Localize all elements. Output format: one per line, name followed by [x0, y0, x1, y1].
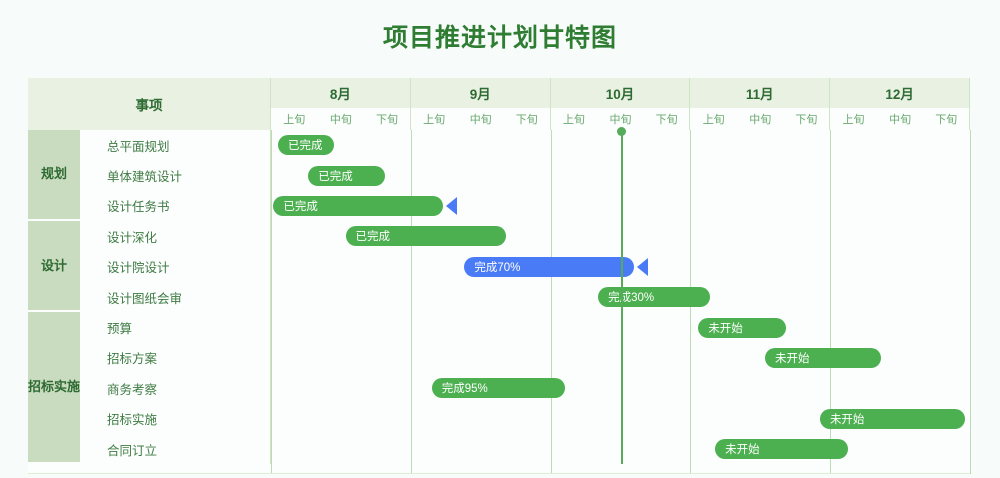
header-item-column: 事项 — [28, 78, 271, 130]
gantt-bar[interactable]: 已完成 — [308, 166, 385, 186]
task-name-cell[interactable]: 预算 — [80, 312, 271, 342]
group-cell-0[interactable]: 规划 — [28, 130, 80, 221]
decade-header-12: 上旬 — [830, 108, 877, 130]
month-header-2: 9月 — [411, 78, 551, 108]
gridline-15 — [970, 130, 971, 474]
decade-header-8: 下旬 — [644, 108, 691, 130]
gantt-bar[interactable]: 未开始 — [765, 348, 881, 368]
gantt-body: 规划设计招标实施 总平面规划单体建筑设计设计任务书设计深化设计院设计设计图纸会审… — [28, 130, 970, 474]
decade-header-1: 中旬 — [318, 108, 365, 130]
decade-header-0: 上旬 — [271, 108, 318, 130]
month-header-4: 11月 — [690, 78, 830, 108]
gantt-bar[interactable]: 未开始 — [698, 318, 786, 338]
task-name-cell[interactable]: 招标方案 — [80, 343, 271, 373]
task-name-cell[interactable]: 商务考察 — [80, 373, 271, 403]
task-name-cell[interactable]: 设计任务书 — [80, 191, 271, 221]
gridline-0 — [271, 130, 272, 474]
group-label-line: 设计 — [41, 258, 67, 274]
group-cell-1[interactable]: 设计 — [28, 221, 80, 312]
gantt-chart: 事项 8月9月10月11月12月 上旬中旬下旬上旬中旬下旬上旬中旬下旬上旬中旬下… — [28, 78, 970, 474]
gantt-bar[interactable]: 未开始 — [820, 409, 965, 429]
decade-header-6: 上旬 — [551, 108, 598, 130]
decade-header-14: 下旬 — [923, 108, 970, 130]
decade-header-3: 上旬 — [411, 108, 458, 130]
month-header-1: 8月 — [271, 78, 411, 108]
milestone-line — [621, 130, 623, 464]
task-name-cell[interactable]: 设计图纸会审 — [80, 282, 271, 312]
gantt-bar[interactable]: 已完成 — [346, 226, 507, 246]
milestone-dot-icon — [617, 127, 626, 136]
gantt-header: 事项 8月9月10月11月12月 上旬中旬下旬上旬中旬下旬上旬中旬下旬上旬中旬下… — [28, 78, 970, 130]
gantt-bar[interactable]: 已完成 — [273, 196, 443, 216]
gantt-bar[interactable]: 未开始 — [715, 439, 848, 459]
decade-header-4: 中旬 — [457, 108, 504, 130]
task-name-cell[interactable]: 设计院设计 — [80, 252, 271, 282]
decade-header-13: 中旬 — [877, 108, 924, 130]
decade-header-11: 下旬 — [784, 108, 831, 130]
decade-header-2: 下旬 — [364, 108, 411, 130]
gantt-bar[interactable]: 完成30% — [598, 287, 710, 307]
decade-header-10: 中旬 — [737, 108, 784, 130]
gantt-bar[interactable]: 已完成 — [278, 135, 334, 155]
gantt-bar[interactable]: 完成95% — [432, 378, 565, 398]
task-name-cell[interactable]: 单体建筑设计 — [80, 160, 271, 190]
decade-header-5: 下旬 — [504, 108, 551, 130]
task-name-cell[interactable]: 设计深化 — [80, 221, 271, 251]
gantt-page: 项目推进计划甘特图 事项 8月9月10月11月12月 上旬中旬下旬上旬中旬下旬上… — [0, 0, 1000, 478]
task-name-cell[interactable]: 合同订立 — [80, 434, 271, 464]
decade-header-9: 上旬 — [690, 108, 737, 130]
task-name-cell[interactable]: 招标实施 — [80, 404, 271, 434]
month-header-5: 12月 — [830, 78, 970, 108]
group-label-line: 规划 — [41, 166, 67, 182]
month-header-3: 10月 — [551, 78, 691, 108]
task-name-cell[interactable]: 总平面规划 — [80, 130, 271, 160]
frame-bottom-divider — [28, 473, 970, 474]
group-label-line: 实施 — [54, 379, 80, 395]
gridline-6 — [551, 130, 552, 474]
gantt-bar[interactable]: 完成70% — [464, 257, 634, 277]
group-label-line: 招标 — [28, 379, 54, 395]
bar-end-marker-icon — [446, 197, 457, 215]
gridline-3 — [411, 130, 412, 474]
page-title: 项目推进计划甘特图 — [0, 18, 1000, 54]
bar-end-marker-icon — [637, 258, 648, 276]
group-cell-2[interactable]: 招标实施 — [28, 312, 80, 464]
